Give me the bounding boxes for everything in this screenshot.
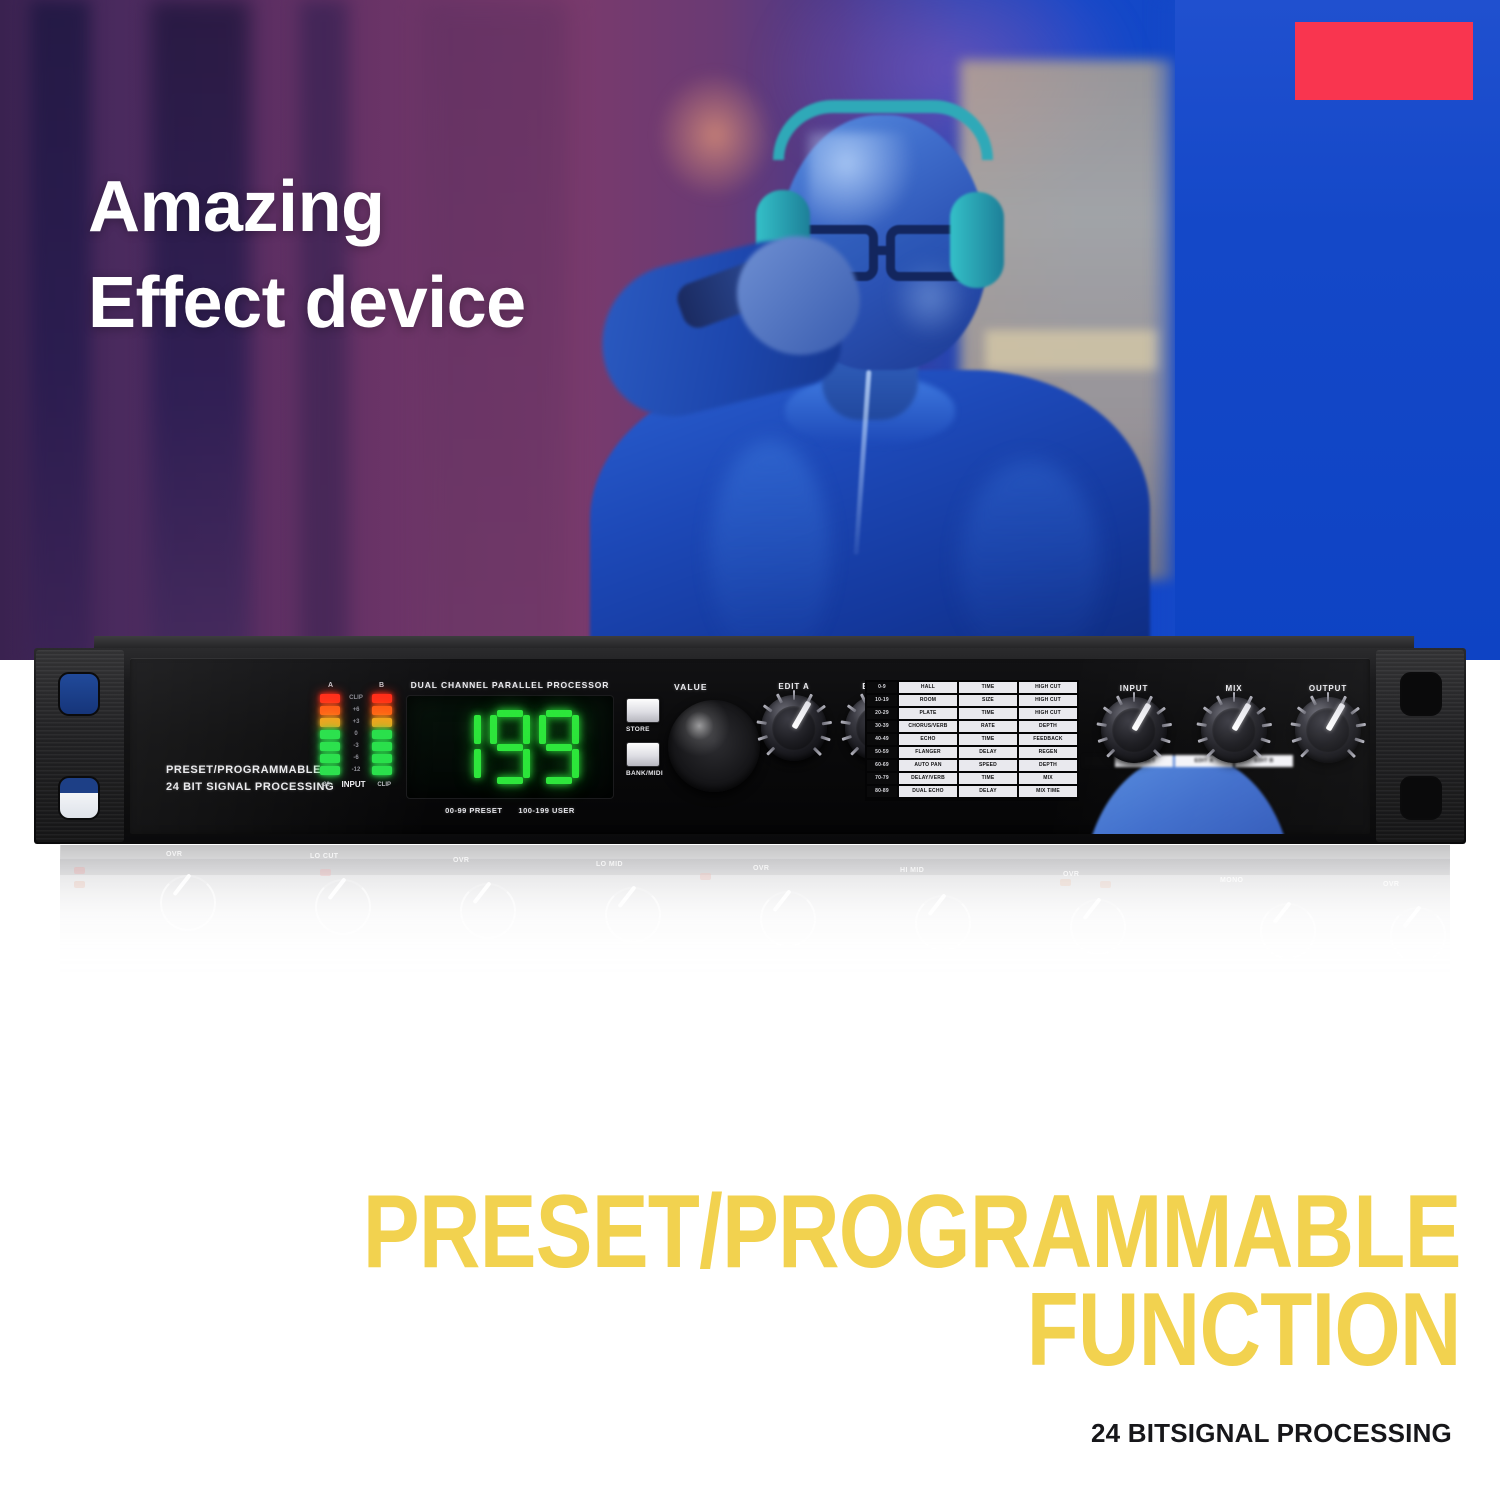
matrix-cell: MIX: [1019, 773, 1077, 784]
matrix-cell: RATE: [959, 721, 1017, 732]
display-digit-0: [441, 710, 481, 784]
knob-edit-a[interactable]: EDIT A: [756, 682, 832, 761]
knob-tick: [1197, 737, 1207, 742]
knob-output-body[interactable]: [1295, 697, 1361, 763]
rack-ear-right: [1376, 650, 1464, 842]
led-indicator: [372, 754, 392, 763]
knob-tick: [756, 721, 766, 725]
led-indicator: [320, 694, 340, 703]
knob-tick: [1350, 707, 1360, 715]
bank-midi-button[interactable]: [626, 742, 660, 767]
person-shirt-fold: [960, 460, 1100, 660]
knob-tick: [1203, 707, 1213, 715]
knob-tick: [1153, 749, 1162, 758]
matrix-cell: TIME: [959, 708, 1017, 719]
led-indicator: [320, 742, 340, 751]
meter-scale-label: CLIP: [348, 695, 364, 701]
matrix-program-number: 50-59: [867, 747, 897, 758]
matrix-cell: PLATE: [899, 708, 957, 719]
meter-rows: CLIP+6+30-3-6-12: [320, 692, 392, 776]
matrix-cell: SIZE: [959, 695, 1017, 706]
segment-g: [497, 744, 523, 751]
led-indicator: [372, 730, 392, 739]
button-column: STORE BANK/MIDI: [626, 698, 660, 785]
matrix-cell: TIME: [959, 773, 1017, 784]
knob-tick: [1160, 737, 1170, 742]
knob-tick: [1196, 723, 1206, 727]
brand-line-2: 24 BIT SIGNAL PROCESSING: [166, 779, 334, 796]
bottom-headline-line-1: PRESET/PROGRAMMABLE: [270, 1185, 1500, 1281]
matrix-row: 40-49ECHOTIMEFEEDBACK: [867, 734, 1077, 745]
knob-tick: [1290, 723, 1300, 727]
rack-mount-hole: [58, 672, 100, 716]
matrix-program-number: 60-69: [867, 760, 897, 771]
reflection-knob: [605, 887, 661, 943]
hero-heading-line-1: Amazing: [88, 160, 526, 256]
bottom-headline-line-2: FUNCTION: [270, 1283, 1500, 1379]
matrix-cell: ECHO: [899, 734, 957, 745]
matrix-row: 20-29PLATETIMEHIGH CUT: [867, 708, 1077, 719]
bottom-headline-block: PRESET/PROGRAMMABLE FUNCTION 24 BITSIGNA…: [0, 1185, 1500, 1449]
knob-tick: [757, 735, 767, 740]
hero-heading: Amazing Effect device: [88, 160, 526, 352]
meter-foot-left: -30: [321, 782, 330, 788]
knob-input[interactable]: INPUT: [1096, 684, 1172, 763]
knob-tick: [1106, 749, 1115, 758]
matrix-cell: AUTO PAN: [899, 760, 957, 771]
segment-c: [474, 749, 481, 778]
matrix-cell: MIX TIME: [1019, 786, 1077, 797]
reflection-label: OVR: [1383, 881, 1399, 888]
reflection-led: [1060, 879, 1071, 886]
knob-tick: [1354, 737, 1364, 742]
matrix-cell: ROOM: [899, 695, 957, 706]
knob-tick: [1347, 749, 1356, 758]
matrix-cell: DEPTH: [1019, 760, 1077, 771]
matrix-program-number: 20-29: [867, 708, 897, 719]
knob-tick: [1355, 723, 1365, 727]
meter-row: -3: [320, 740, 392, 752]
red-badge: [1295, 22, 1473, 100]
matrix-cell: DEPTH: [1019, 721, 1077, 732]
knob-mix[interactable]: MIX: [1196, 684, 1272, 763]
meter-scale-label: 0: [348, 731, 364, 737]
knob-tick: [1261, 723, 1271, 727]
matrix-cell: DELAY: [959, 786, 1017, 797]
matrix-header-row: EFFECTEDIT AEDIT B: [1083, 755, 1293, 834]
reflection-knob: [1070, 899, 1126, 955]
meter-footer: -30 INPUT CLIP: [320, 780, 392, 789]
matrix-row: 10-19ROOMSIZEHIGH CUT: [867, 695, 1077, 706]
matrix-row: 80-89DUAL ECHODELAYMIX TIME: [867, 786, 1077, 797]
matrix-cell: HIGH CUT: [1019, 682, 1077, 693]
knob-tick: [793, 690, 796, 700]
knob-tick: [1233, 692, 1236, 702]
matrix-row: 0-9HALLTIMEHIGH CUT: [867, 682, 1077, 693]
segment-c: [523, 749, 530, 778]
matrix-row: 30-39CHORUS/VERBRATEDEPTH: [867, 721, 1077, 732]
matrix-row: 70-79DELAY/VERBTIMEMIX: [867, 773, 1077, 784]
segment-a: [546, 710, 572, 717]
meter-channel-labels: A B: [320, 682, 392, 689]
rack-effect-processor: PRESET/PROGRAMMABLE 24 BIT SIGNAL PROCES…: [34, 636, 1466, 861]
reflection-knob: [760, 891, 816, 947]
reflection-led: [700, 873, 711, 880]
hero-banner: Amazing Effect device: [0, 0, 1500, 660]
rack-mount-hole: [1400, 672, 1442, 716]
knob-tick: [813, 747, 822, 756]
rack-ear-left: [36, 650, 124, 842]
store-button[interactable]: [626, 698, 660, 723]
reflection-knob: [160, 875, 216, 931]
meter-scale-label: -6: [348, 755, 364, 761]
reflection-label: LO MID: [596, 861, 623, 868]
matrix-program-number: 10-19: [867, 695, 897, 706]
meter-row: +6: [320, 704, 392, 716]
knob-tick: [1116, 696, 1123, 706]
led-indicator: [372, 766, 392, 775]
reflection-led: [74, 881, 85, 888]
front-panel: PRESET/PROGRAMMABLE 24 BIT SIGNAL PROCES…: [130, 658, 1370, 834]
knob-tick: [1133, 692, 1136, 702]
headphones-earcup-right: [950, 192, 1004, 288]
led-indicator: [320, 730, 340, 739]
seven-segment-display: [406, 695, 614, 799]
meter-scale-label: +6: [348, 707, 364, 713]
knob-tick: [1097, 737, 1107, 742]
value-encoder-knob[interactable]: [668, 700, 760, 792]
knob-output[interactable]: OUTPUT: [1290, 684, 1366, 763]
knob-tick: [1216, 696, 1223, 706]
reflection-knob: [315, 879, 371, 935]
segment-f: [490, 715, 497, 744]
matrix-cell: FLANGER: [899, 747, 957, 758]
matrix-cell: TIME: [959, 682, 1017, 693]
matrix-cell: FEEDBACK: [1019, 734, 1077, 745]
glasses-bridge: [876, 246, 892, 255]
knob-tick: [1156, 707, 1166, 715]
reflection-label: OVR: [753, 865, 769, 872]
reflection-led: [1100, 881, 1111, 888]
knob-tick: [850, 747, 859, 756]
knob-tick: [840, 721, 850, 725]
led-indicator: [372, 694, 392, 703]
matrix-cell: REGEN: [1019, 747, 1077, 758]
meter-row: CLIP: [320, 692, 392, 704]
reflection-label: HI MID: [900, 867, 924, 874]
user-range-label: 100-199 USER: [518, 806, 574, 815]
bank-midi-button-label: BANK/MIDI: [626, 770, 660, 778]
background-band: [30, 0, 90, 660]
brand-line-1: PRESET/PROGRAMMABLE: [166, 762, 334, 779]
knob-tick: [816, 705, 826, 713]
store-button-label: STORE: [626, 726, 660, 734]
display-title: DUAL CHANNEL PARALLEL PROCESSOR: [406, 680, 614, 690]
matrix-program-number: 30-39: [867, 721, 897, 732]
knob-tick: [1260, 737, 1270, 742]
knob-mix-body[interactable]: [1201, 697, 1267, 763]
matrix-cell: SPEED: [959, 760, 1017, 771]
reflection-knob: [1390, 907, 1446, 963]
matrix-row: 60-69AUTO PANSPEEDDEPTH: [867, 760, 1077, 771]
segment-c: [572, 749, 579, 778]
segment-b: [474, 715, 481, 744]
segment-b: [572, 715, 579, 744]
hero-heading-line-2: Effect device: [88, 256, 526, 352]
led-indicator: [320, 766, 340, 775]
matrix-row: 50-59FLANGERDELAYREGEN: [867, 747, 1077, 758]
led-indicator: [320, 706, 340, 715]
reflection-led: [74, 867, 85, 874]
knob-tick: [1310, 696, 1317, 706]
knob-input-body[interactable]: [1101, 697, 1167, 763]
knob-tick: [1096, 723, 1106, 727]
matrix-cell: DELAY/VERB: [899, 773, 957, 784]
display-subtitle: 00-99 PRESET 100-199 USER: [406, 806, 614, 815]
knob-tick: [763, 705, 773, 713]
knob-tick: [1291, 737, 1301, 742]
knob-tick: [1327, 692, 1330, 702]
meter-scale-label: -12: [348, 767, 364, 773]
preset-range-label: 00-99 PRESET: [445, 806, 502, 815]
led-indicator: [320, 754, 340, 763]
matrix-program-number: 40-49: [867, 734, 897, 745]
meter-label-a: A: [328, 682, 333, 689]
matrix-cell: TIME: [959, 734, 1017, 745]
display-digit-1: [490, 710, 530, 784]
bottom-subtitle: 24 BITSIGNAL PROCESSING: [0, 1418, 1500, 1449]
knob-tick: [821, 721, 831, 725]
value-label: VALUE: [674, 682, 708, 692]
led-level-meters: A B CLIP+6+30-3-6-12 -30 INPUT CLIP: [320, 682, 392, 789]
meter-scale-label: +3: [348, 719, 364, 725]
matrix-cell: HIGH CUT: [1019, 708, 1077, 719]
matrix-program-number: 70-79: [867, 773, 897, 784]
reflection-knob: [460, 883, 516, 939]
segment-a: [497, 710, 523, 717]
meter-foot-center: INPUT: [342, 780, 366, 789]
knob-tick: [1297, 707, 1307, 715]
headphones-band: [773, 100, 993, 160]
reflection-label: MONO: [1220, 877, 1243, 884]
matrix-cell: HALL: [899, 682, 957, 693]
knob-tick: [1300, 749, 1309, 758]
dj-person-photo: [560, 40, 1180, 660]
brand-text: PRESET/PROGRAMMABLE 24 BIT SIGNAL PROCES…: [166, 762, 334, 795]
matrix-cell: DUAL ECHO: [899, 786, 957, 797]
matrix-program-number: 80-89: [867, 786, 897, 797]
led-indicator: [372, 706, 392, 715]
segment-f: [539, 715, 546, 744]
reflection-knob: [1260, 903, 1316, 959]
knob-tick: [766, 747, 775, 756]
meter-row: -6: [320, 752, 392, 764]
segment-d: [497, 777, 523, 784]
display-section: DUAL CHANNEL PARALLEL PROCESSOR 00-99 PR…: [406, 680, 614, 815]
matrix-cell: DELAY: [959, 747, 1017, 758]
matrix-program-number: 0-9: [867, 682, 897, 693]
knob-tick: [1253, 749, 1262, 758]
preset-effect-matrix: EFFECTEDIT AEDIT B0-9HALLTIMEHIGH CUT10-…: [865, 680, 1079, 801]
led-indicator: [372, 718, 392, 727]
meter-row: 0: [320, 728, 392, 740]
rack-mount-hole: [1400, 776, 1442, 820]
segment-b: [523, 715, 530, 744]
led-indicator: [320, 718, 340, 727]
meter-row: +3: [320, 716, 392, 728]
rack-mount-hole: [58, 776, 100, 820]
led-indicator: [372, 742, 392, 751]
segment-g: [546, 744, 572, 751]
reflection-led: [320, 869, 331, 876]
device-reflection: OVR LO CUT OVR LO MID OVR HI MID OVR MON…: [60, 845, 1450, 1015]
display-digit-2: [539, 710, 579, 784]
segment-d: [546, 777, 572, 784]
knob-tick: [841, 735, 851, 740]
meter-row: -12: [320, 764, 392, 776]
matrix-cell: CHORUS/VERB: [899, 721, 957, 732]
knob-edit-a-body[interactable]: [761, 695, 827, 761]
knob-tick: [1256, 707, 1266, 715]
knob-tick: [1161, 723, 1171, 727]
reflection-knob: [915, 895, 971, 951]
knob-tick: [847, 705, 857, 713]
reflection-label: OVR: [1063, 871, 1079, 878]
person-shirt-fold: [710, 440, 830, 660]
knob-tick: [776, 694, 783, 704]
knob-tick: [1103, 707, 1113, 715]
meter-scale-label: -3: [348, 743, 364, 749]
knob-tick: [820, 735, 830, 740]
knob-tick: [1206, 749, 1215, 758]
meter-foot-right: CLIP: [377, 782, 391, 788]
matrix-cell: HIGH CUT: [1019, 695, 1077, 706]
meter-label-b: B: [379, 682, 384, 689]
